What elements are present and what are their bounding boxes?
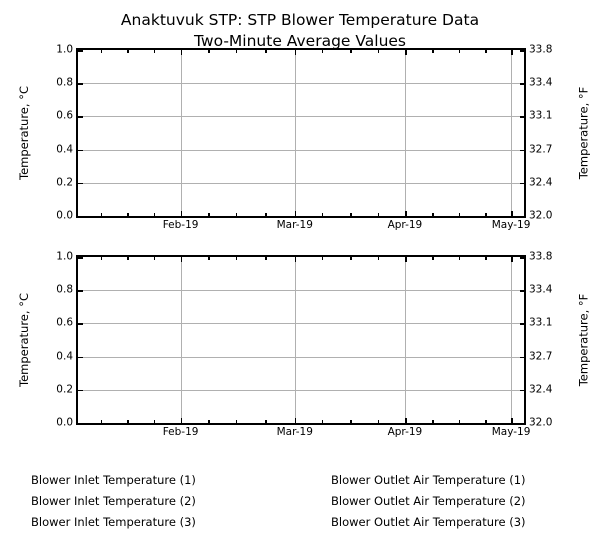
- legend-item-label: Blower Inlet Temperature (3): [31, 516, 196, 529]
- x-tick-minor: [350, 213, 352, 216]
- x-tick-major: [511, 211, 513, 216]
- y-ticklabel-left: 0.0: [56, 211, 73, 222]
- x-tick-major: [295, 418, 297, 423]
- y-tick-left: [78, 357, 83, 359]
- chart-legend: Blower Inlet Temperature (1) Blower Inle…: [0, 470, 600, 542]
- legend-item[interactable]: Blower Outlet Air Temperature (3): [331, 512, 526, 533]
- y-tick-left: [78, 150, 83, 152]
- legend-item-label: Blower Outlet Air Temperature (1): [331, 474, 526, 487]
- x-tick-minor-top: [154, 50, 156, 53]
- x-tick-minor: [378, 420, 380, 423]
- x-tick-major-top: [295, 50, 297, 55]
- x-tick-minor-top: [350, 50, 352, 53]
- y-axis-label-left: Temperature, °C: [17, 86, 31, 180]
- y-tick-right: [520, 423, 525, 425]
- legend-item[interactable]: Blower Inlet Temperature (3): [31, 512, 196, 533]
- x-tick-minor-top: [101, 257, 103, 260]
- y-tick-left: [78, 50, 83, 52]
- gridline-horizontal: [78, 183, 524, 184]
- gridline-vertical: [405, 50, 406, 216]
- x-tick-minor-top: [378, 257, 380, 260]
- x-ticklabel: Feb-19: [163, 220, 199, 231]
- y-ticklabel-right: 33.1: [529, 111, 552, 122]
- y-tick-right: [520, 323, 525, 325]
- y-ticklabel-right: 33.8: [529, 45, 552, 56]
- x-tick-minor-top: [236, 50, 238, 53]
- x-tick-minor: [154, 420, 156, 423]
- figure-canvas: Anaktuvuk STP: STP Blower Temperature Da…: [0, 0, 600, 550]
- gridline-vertical: [295, 50, 296, 216]
- x-tick-minor-top: [101, 50, 103, 53]
- x-tick-minor-top: [322, 50, 324, 53]
- y-ticklabel-left: 0.0: [56, 418, 73, 429]
- x-tick-minor: [350, 420, 352, 423]
- y-tick-left: [78, 216, 83, 218]
- x-ticklabel: May-19: [492, 427, 531, 438]
- gridline-horizontal: [78, 390, 524, 391]
- gridline-horizontal: [78, 290, 524, 291]
- lower-plot-axes[interactable]: 0.0 0.2 0.4 0.6 0.8 1.0 32.0 32.4 32.7 3…: [76, 255, 526, 425]
- gridline-horizontal: [78, 357, 524, 358]
- y-tick-left: [78, 423, 83, 425]
- gridline-horizontal: [78, 83, 524, 84]
- x-tick-minor: [127, 213, 129, 216]
- x-tick-minor: [236, 213, 238, 216]
- legend-item-label: Blower Inlet Temperature (1): [31, 474, 196, 487]
- x-tick-minor: [101, 420, 103, 423]
- x-tick-minor-top: [127, 50, 129, 53]
- x-tick-minor-top: [236, 257, 238, 260]
- gridline-vertical: [511, 257, 512, 423]
- y-tick-left: [78, 83, 83, 85]
- x-ticklabel: Mar-19: [277, 427, 313, 438]
- x-tick-minor: [459, 420, 461, 423]
- x-tick-major: [181, 418, 183, 423]
- legend-column-inlet: Blower Inlet Temperature (1) Blower Inle…: [31, 470, 196, 533]
- y-ticklabel-left: 0.2: [56, 177, 73, 188]
- legend-item[interactable]: Blower Outlet Air Temperature (1): [331, 470, 526, 491]
- x-tick-major: [295, 211, 297, 216]
- x-tick-major-top: [405, 257, 407, 262]
- x-tick-minor-top: [265, 257, 267, 260]
- y-ticklabel-right: 33.1: [529, 318, 552, 329]
- legend-item[interactable]: Blower Inlet Temperature (1): [31, 470, 196, 491]
- x-tick-minor: [322, 213, 324, 216]
- x-tick-minor-top: [127, 257, 129, 260]
- y-ticklabel-left: 0.4: [56, 144, 73, 155]
- chart-title: Anaktuvuk STP: STP Blower Temperature Da…: [0, 10, 600, 52]
- y-tick-right: [520, 357, 525, 359]
- y-tick-right: [520, 290, 525, 292]
- x-tick-minor-top: [322, 257, 324, 260]
- x-tick-minor: [485, 213, 487, 216]
- y-tick-left: [78, 290, 83, 292]
- y-tick-right: [520, 83, 525, 85]
- y-ticklabel-left: 1.0: [56, 252, 73, 263]
- y-tick-left: [78, 390, 83, 392]
- x-tick-major-top: [181, 257, 183, 262]
- x-tick-major-top: [511, 50, 513, 55]
- y-ticklabel-right: 32.0: [529, 418, 552, 429]
- x-ticklabel: Apr-19: [388, 427, 423, 438]
- x-tick-major-top: [295, 257, 297, 262]
- y-ticklabel-left: 1.0: [56, 45, 73, 56]
- legend-item[interactable]: Blower Inlet Temperature (2): [31, 491, 196, 512]
- y-ticklabel-right: 32.4: [529, 384, 552, 395]
- x-tick-minor-top: [485, 50, 487, 53]
- gridline-vertical: [511, 50, 512, 216]
- x-tick-minor-top: [432, 257, 434, 260]
- x-tick-minor: [485, 420, 487, 423]
- y-ticklabel-left: 0.2: [56, 384, 73, 395]
- x-tick-minor-top: [265, 50, 267, 53]
- y-tick-left: [78, 257, 83, 259]
- x-tick-minor: [459, 213, 461, 216]
- y-ticklabel-right: 32.7: [529, 351, 552, 362]
- y-ticklabel-left: 0.6: [56, 318, 73, 329]
- y-ticklabel-right: 32.7: [529, 144, 552, 155]
- x-tick-minor-top: [350, 257, 352, 260]
- x-tick-major: [511, 418, 513, 423]
- legend-item-label: Blower Outlet Air Temperature (2): [331, 495, 526, 508]
- gridline-vertical: [181, 257, 182, 423]
- x-tick-minor: [265, 420, 267, 423]
- y-tick-left: [78, 183, 83, 185]
- y-axis-label-right: Temperature, °F: [577, 87, 591, 180]
- x-tick-minor: [265, 213, 267, 216]
- y-tick-right: [520, 216, 525, 218]
- y-tick-right: [520, 257, 525, 259]
- gridline-vertical: [181, 50, 182, 216]
- gridline-horizontal: [78, 116, 524, 117]
- x-tick-major: [405, 418, 407, 423]
- y-tick-right: [520, 116, 525, 118]
- x-tick-minor: [208, 420, 210, 423]
- x-tick-minor: [208, 213, 210, 216]
- x-tick-minor: [378, 213, 380, 216]
- x-ticklabel: Feb-19: [163, 427, 199, 438]
- x-tick-minor-top: [432, 50, 434, 53]
- y-ticklabel-left: 0.6: [56, 111, 73, 122]
- y-ticklabel-left: 0.8: [56, 285, 73, 296]
- y-axis-label-right: Temperature, °F: [577, 294, 591, 387]
- x-tick-major: [181, 211, 183, 216]
- x-tick-major: [405, 211, 407, 216]
- upper-plot-axes[interactable]: 0.0 0.2 0.4 0.6 0.8 1.0 32.0 32.4 32.7 3…: [76, 48, 526, 218]
- legend-item-label: Blower Outlet Air Temperature (3): [331, 516, 526, 529]
- x-ticklabel: May-19: [492, 220, 531, 231]
- gridline-horizontal: [78, 150, 524, 151]
- y-tick-right: [520, 390, 525, 392]
- y-tick-right: [520, 183, 525, 185]
- y-ticklabel-right: 33.4: [529, 285, 552, 296]
- gridline-horizontal: [78, 323, 524, 324]
- legend-item-label: Blower Inlet Temperature (2): [31, 495, 196, 508]
- y-ticklabel-left: 0.8: [56, 78, 73, 89]
- x-tick-minor-top: [208, 257, 210, 260]
- x-tick-minor-top: [459, 257, 461, 260]
- x-ticklabel: Mar-19: [277, 220, 313, 231]
- y-ticklabel-right: 32.0: [529, 211, 552, 222]
- x-tick-minor: [236, 420, 238, 423]
- x-tick-minor-top: [378, 50, 380, 53]
- chart-title-line1: Anaktuvuk STP: STP Blower Temperature Da…: [121, 11, 479, 29]
- x-tick-minor-top: [154, 257, 156, 260]
- y-axis-label-left: Temperature, °C: [17, 293, 31, 387]
- lower-plot-area[interactable]: [78, 257, 524, 423]
- gridline-vertical: [295, 257, 296, 423]
- x-tick-minor: [101, 213, 103, 216]
- x-tick-minor-top: [208, 50, 210, 53]
- x-tick-minor: [154, 213, 156, 216]
- y-ticklabel-right: 32.4: [529, 177, 552, 188]
- gridline-vertical: [405, 257, 406, 423]
- y-ticklabel-left: 0.4: [56, 351, 73, 362]
- upper-plot-area[interactable]: [78, 50, 524, 216]
- y-tick-left: [78, 323, 83, 325]
- legend-item[interactable]: Blower Outlet Air Temperature (2): [331, 491, 526, 512]
- x-tick-major-top: [511, 257, 513, 262]
- x-tick-minor: [127, 420, 129, 423]
- x-ticklabel: Apr-19: [388, 220, 423, 231]
- y-ticklabel-right: 33.4: [529, 78, 552, 89]
- x-tick-minor-top: [485, 257, 487, 260]
- y-tick-left: [78, 116, 83, 118]
- y-ticklabel-right: 33.8: [529, 252, 552, 263]
- x-tick-major-top: [181, 50, 183, 55]
- x-tick-minor: [322, 420, 324, 423]
- x-tick-major-top: [405, 50, 407, 55]
- y-tick-right: [520, 150, 525, 152]
- legend-column-outlet: Blower Outlet Air Temperature (1) Blower…: [331, 470, 526, 533]
- x-tick-minor: [432, 213, 434, 216]
- x-tick-minor: [432, 420, 434, 423]
- y-tick-right: [520, 50, 525, 52]
- x-tick-minor-top: [459, 50, 461, 53]
